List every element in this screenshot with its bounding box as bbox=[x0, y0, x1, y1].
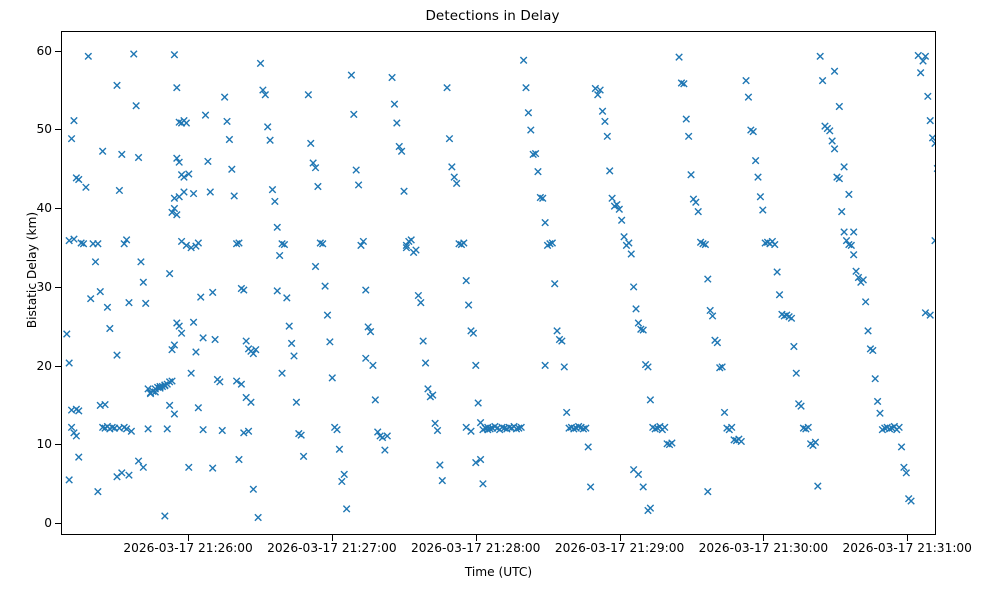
scatter-point bbox=[695, 208, 701, 214]
scatter-point bbox=[75, 454, 81, 460]
scatter-point bbox=[647, 397, 653, 403]
scatter-point bbox=[865, 328, 871, 334]
scatter-point bbox=[626, 240, 632, 246]
scatter-point bbox=[925, 93, 931, 99]
scatter-point bbox=[102, 401, 108, 407]
scatter-point bbox=[174, 84, 180, 90]
scatter-point bbox=[276, 252, 282, 258]
x-tick-mark bbox=[476, 535, 477, 541]
scatter-point bbox=[107, 325, 113, 331]
scatter-point bbox=[449, 164, 455, 170]
scatter-point bbox=[200, 426, 206, 432]
scatter-point bbox=[927, 117, 933, 123]
scatter-point bbox=[142, 300, 148, 306]
scatter-point bbox=[628, 251, 634, 257]
scatter-point bbox=[774, 269, 780, 275]
matplotlib-figure: Detections in Delay 0102030405060 2026-0… bbox=[0, 0, 985, 590]
scatter-point bbox=[140, 279, 146, 285]
scatter-point bbox=[209, 289, 215, 295]
scatter-point bbox=[542, 362, 548, 368]
scatter-point bbox=[219, 427, 225, 433]
scatter-point bbox=[585, 444, 591, 450]
scatter-point bbox=[661, 424, 667, 430]
scatter-point bbox=[131, 51, 137, 57]
scatter-point bbox=[805, 424, 811, 430]
scatter-point bbox=[166, 402, 172, 408]
scatter-point bbox=[300, 453, 306, 459]
x-tick-label: 2026-03-17 21:29:00 bbox=[555, 541, 684, 555]
scatter-point bbox=[176, 323, 182, 329]
x-tick-mark bbox=[907, 535, 908, 541]
scatter-point bbox=[621, 233, 627, 239]
scatter-point bbox=[104, 304, 110, 310]
scatter-point bbox=[99, 148, 105, 154]
scatter-point bbox=[817, 53, 823, 59]
scatter-point bbox=[451, 174, 457, 180]
scatter-point bbox=[618, 217, 624, 223]
scatter-point bbox=[831, 146, 837, 152]
scatter-point bbox=[465, 302, 471, 308]
scatter-point bbox=[73, 433, 79, 439]
scatter-point bbox=[286, 323, 292, 329]
scatter-point bbox=[606, 168, 612, 174]
scatter-point bbox=[535, 168, 541, 174]
scatter-point bbox=[473, 362, 479, 368]
scatter-point bbox=[630, 284, 636, 290]
scatter-point bbox=[221, 94, 227, 100]
scatter-point bbox=[343, 506, 349, 512]
scatter-point bbox=[444, 84, 450, 90]
scatter-point bbox=[750, 128, 756, 134]
scatter-point bbox=[896, 424, 902, 430]
scatter-point bbox=[119, 151, 125, 157]
scatter-point bbox=[676, 54, 682, 60]
scatter-point bbox=[284, 295, 290, 301]
scatter-point bbox=[308, 140, 314, 146]
scatter-point bbox=[647, 505, 653, 511]
scatter-point bbox=[351, 111, 357, 117]
scatter-point bbox=[917, 70, 923, 76]
scatter-point bbox=[728, 424, 734, 430]
scatter-point bbox=[217, 379, 223, 385]
scatter-point bbox=[353, 167, 359, 173]
scatter-point bbox=[195, 240, 201, 246]
scatter-point bbox=[190, 190, 196, 196]
x-tick-mark bbox=[188, 535, 189, 541]
scatter-point bbox=[425, 386, 431, 392]
scatter-point bbox=[207, 189, 213, 195]
scatter-point bbox=[114, 82, 120, 88]
scatter-point bbox=[195, 404, 201, 410]
x-tick-label: 2026-03-17 21:28:00 bbox=[411, 541, 540, 555]
scatter-point bbox=[437, 462, 443, 468]
scatter-point bbox=[293, 399, 299, 405]
scatter-point bbox=[126, 299, 132, 305]
scatter-point bbox=[475, 400, 481, 406]
scatter-point bbox=[776, 292, 782, 298]
scatter-point bbox=[272, 198, 278, 204]
scatter-point bbox=[363, 355, 369, 361]
scatter-point bbox=[463, 277, 469, 283]
scatter-point bbox=[186, 464, 192, 470]
scatter-point bbox=[420, 338, 426, 344]
scatter-point bbox=[212, 336, 218, 342]
scatter-point bbox=[688, 172, 694, 178]
scatter-point bbox=[745, 94, 751, 100]
scatter-point bbox=[171, 411, 177, 417]
y-tick-mark bbox=[55, 287, 61, 288]
scatter-point bbox=[181, 189, 187, 195]
x-tick-mark bbox=[332, 535, 333, 541]
scatter-point bbox=[827, 128, 833, 134]
scatter-point bbox=[542, 219, 548, 225]
scatter-point bbox=[633, 306, 639, 312]
scatter-point bbox=[554, 328, 560, 334]
scatter-point bbox=[934, 165, 935, 171]
scatter-point bbox=[872, 375, 878, 381]
scatter-point bbox=[391, 101, 397, 107]
scatter-point bbox=[439, 477, 445, 483]
scatter-point bbox=[793, 370, 799, 376]
scatter-point bbox=[772, 241, 778, 247]
scatter-point bbox=[898, 444, 904, 450]
scatter-point bbox=[66, 360, 72, 366]
scatter-point bbox=[551, 281, 557, 287]
scatter-point bbox=[324, 312, 330, 318]
scatter-point bbox=[791, 343, 797, 349]
scatter-point bbox=[288, 340, 294, 346]
scatter-point bbox=[645, 364, 651, 370]
scatter-point bbox=[95, 488, 101, 494]
scatter-point bbox=[841, 229, 847, 235]
scatter-point bbox=[372, 397, 378, 403]
scatter-point bbox=[183, 120, 189, 126]
scatter-point bbox=[602, 118, 608, 124]
scatter-point bbox=[355, 182, 361, 188]
scatter-point bbox=[850, 229, 856, 235]
scatter-point bbox=[171, 52, 177, 58]
scatter-point bbox=[850, 252, 856, 258]
scatter-point bbox=[250, 486, 256, 492]
scatter-point bbox=[819, 77, 825, 83]
scatter-point bbox=[334, 426, 340, 432]
scatter-point bbox=[164, 426, 170, 432]
scatter-point bbox=[413, 247, 419, 253]
scatter-point bbox=[231, 193, 237, 199]
scatter-point bbox=[193, 349, 199, 355]
scatter-point bbox=[135, 154, 141, 160]
scatter-point bbox=[236, 456, 242, 462]
scatter-point bbox=[908, 498, 914, 504]
scatter-point bbox=[341, 471, 347, 477]
scatter-point bbox=[705, 276, 711, 282]
scatter-point bbox=[75, 176, 81, 182]
scatter-point bbox=[264, 124, 270, 130]
y-tick-mark bbox=[55, 129, 61, 130]
scatter-point bbox=[71, 117, 77, 123]
scatter-point bbox=[635, 320, 641, 326]
scatter-point bbox=[257, 60, 263, 66]
scatter-point bbox=[721, 409, 727, 415]
scatter-point bbox=[269, 186, 275, 192]
scatter-point bbox=[197, 294, 203, 300]
scatter-point bbox=[877, 410, 883, 416]
scatter-point bbox=[609, 195, 615, 201]
scatter-point bbox=[305, 92, 311, 98]
scatter-point bbox=[188, 370, 194, 376]
x-tick-label: 2026-03-17 21:26:00 bbox=[123, 541, 252, 555]
scatter-point bbox=[274, 224, 280, 230]
scatter-point bbox=[166, 270, 172, 276]
scatter-point bbox=[932, 140, 935, 146]
scatter-point bbox=[561, 364, 567, 370]
scatter-point bbox=[563, 409, 569, 415]
scatter-point bbox=[145, 426, 151, 432]
scatter-point bbox=[83, 184, 89, 190]
scatter-point bbox=[525, 110, 531, 116]
scatter-point bbox=[453, 180, 459, 186]
scatter-point bbox=[97, 288, 103, 294]
scatter-point bbox=[422, 360, 428, 366]
scatter-point bbox=[95, 241, 101, 247]
scatter-point bbox=[133, 102, 139, 108]
scatter-point bbox=[760, 207, 766, 213]
scatter-point bbox=[116, 187, 122, 193]
scatter-point bbox=[836, 175, 842, 181]
scatter-point bbox=[140, 464, 146, 470]
scatter-point bbox=[363, 287, 369, 293]
chart-title: Detections in Delay bbox=[0, 8, 985, 24]
scatter-point bbox=[752, 157, 758, 163]
scatter-point bbox=[389, 74, 395, 80]
scatter-point bbox=[255, 514, 261, 520]
scatter-point bbox=[138, 259, 144, 265]
scatter-point bbox=[279, 370, 285, 376]
y-axis-label: Bistatic Delay (km) bbox=[25, 120, 39, 420]
scatter-point bbox=[226, 136, 232, 142]
scatter-point bbox=[853, 268, 859, 274]
scatter-point bbox=[312, 263, 318, 269]
scatter-point bbox=[327, 339, 333, 345]
scatter-point bbox=[408, 237, 414, 243]
scatter-point bbox=[559, 338, 565, 344]
scatter-point bbox=[587, 484, 593, 490]
scatter-point bbox=[520, 57, 526, 63]
scatter-point bbox=[315, 183, 321, 189]
scatter-point bbox=[640, 484, 646, 490]
x-tick-mark bbox=[763, 535, 764, 541]
scatter-point bbox=[401, 188, 407, 194]
scatter-point bbox=[523, 84, 529, 90]
scatter-point bbox=[604, 133, 610, 139]
scatter-point bbox=[446, 135, 452, 141]
scatter-point bbox=[248, 399, 254, 405]
scatter-point bbox=[322, 283, 328, 289]
scatter-point bbox=[274, 288, 280, 294]
scatter-point bbox=[92, 259, 98, 265]
scatter-point bbox=[846, 191, 852, 197]
scatter-point bbox=[870, 347, 876, 353]
scatter-point bbox=[298, 432, 304, 438]
scatter-point bbox=[119, 470, 125, 476]
scatter-point bbox=[370, 362, 376, 368]
scatter-point bbox=[528, 127, 534, 133]
scatter-point bbox=[382, 447, 388, 453]
y-tick-label: 0 bbox=[44, 516, 52, 530]
scatter-point bbox=[291, 353, 297, 359]
scatter-point bbox=[468, 428, 474, 434]
scatter-point bbox=[836, 103, 842, 109]
scatter-point bbox=[114, 352, 120, 358]
y-tick-mark bbox=[55, 51, 61, 52]
scatter-point bbox=[815, 483, 821, 489]
y-tick-mark bbox=[55, 444, 61, 445]
scatter-point bbox=[241, 287, 247, 293]
scatter-point bbox=[190, 319, 196, 325]
scatter-point bbox=[68, 135, 74, 141]
scatter-point bbox=[415, 292, 421, 298]
x-tick-label: 2026-03-17 21:30:00 bbox=[699, 541, 828, 555]
scatter-point bbox=[329, 375, 335, 381]
scatter-point bbox=[685, 133, 691, 139]
scatter-point bbox=[755, 174, 761, 180]
plot-area bbox=[61, 31, 936, 535]
scatter-point bbox=[336, 446, 342, 452]
scatter-point bbox=[267, 137, 273, 143]
scatter-point bbox=[418, 299, 424, 305]
scatter-point bbox=[669, 440, 675, 446]
scatter-point bbox=[243, 338, 249, 344]
scatter-point bbox=[348, 72, 354, 78]
scatter-point bbox=[339, 478, 345, 484]
scatter-point bbox=[209, 465, 215, 471]
scatter-point bbox=[798, 403, 804, 409]
x-tick-label: 2026-03-17 21:31:00 bbox=[842, 541, 971, 555]
scatter-point bbox=[87, 295, 93, 301]
scatter-point bbox=[480, 481, 486, 487]
scatter-point bbox=[683, 116, 689, 122]
scatter-point bbox=[178, 330, 184, 336]
scatter-point bbox=[224, 118, 230, 124]
scatter-point bbox=[874, 398, 880, 404]
scatter-point bbox=[841, 164, 847, 170]
scatter-point bbox=[757, 193, 763, 199]
scatter-point bbox=[429, 392, 435, 398]
x-axis-label: Time (UTC) bbox=[61, 565, 936, 579]
scatter-point bbox=[470, 330, 476, 336]
scatter-point bbox=[85, 53, 91, 59]
scatter-point bbox=[831, 68, 837, 74]
scatter-point bbox=[205, 158, 211, 164]
scatter-point bbox=[932, 237, 935, 243]
scatter-point bbox=[229, 166, 235, 172]
y-tick-mark bbox=[55, 366, 61, 367]
scatter-point bbox=[862, 299, 868, 305]
scatter-point bbox=[64, 331, 70, 337]
scatter-point bbox=[135, 458, 141, 464]
scatter-point bbox=[461, 240, 467, 246]
scatter-point bbox=[200, 335, 206, 341]
scatter-point bbox=[743, 77, 749, 83]
scatter-point bbox=[838, 208, 844, 214]
scatter-point bbox=[66, 477, 72, 483]
y-tick-label: 60 bbox=[36, 44, 52, 58]
scatter-point bbox=[394, 120, 400, 126]
scatter-point bbox=[432, 420, 438, 426]
y-tick-label: 10 bbox=[36, 437, 52, 451]
scatter-point bbox=[705, 488, 711, 494]
scatter-points-layer bbox=[62, 32, 935, 534]
scatter-point bbox=[162, 513, 168, 519]
scatter-point bbox=[714, 339, 720, 345]
x-tick-label: 2026-03-17 21:27:00 bbox=[267, 541, 396, 555]
scatter-point bbox=[202, 112, 208, 118]
x-tick-mark bbox=[620, 535, 621, 541]
scatter-point bbox=[434, 427, 440, 433]
scatter-point bbox=[635, 471, 641, 477]
scatter-point bbox=[599, 108, 605, 114]
y-tick-mark bbox=[55, 523, 61, 524]
scatter-point bbox=[738, 438, 744, 444]
scatter-point bbox=[75, 408, 81, 414]
y-tick-mark bbox=[55, 208, 61, 209]
scatter-point bbox=[829, 138, 835, 144]
scatter-point bbox=[693, 199, 699, 205]
scatter-point bbox=[126, 472, 132, 478]
